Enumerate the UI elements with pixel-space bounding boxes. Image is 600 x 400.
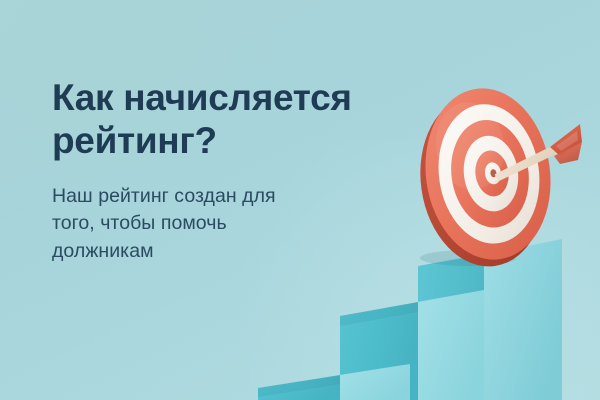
arrow-fletching-highlight	[556, 131, 578, 151]
target-ring-outer-red	[415, 80, 562, 268]
arrow-fletching-upper	[550, 124, 582, 156]
banner-headline: Как начисляется рейтинг?	[52, 76, 412, 163]
step-bar-3	[418, 239, 562, 400]
target-ring-red-3	[472, 148, 511, 198]
step-bar-2	[340, 290, 484, 400]
target-bullseye	[490, 169, 497, 178]
banner-copy: Как начисляется рейтинг? Наш рейтинг соз…	[52, 76, 412, 266]
target-side-rim	[410, 87, 557, 275]
banner-subheadline: Наш рейтинг создан для того, чтобы помоч…	[52, 163, 412, 266]
step-bar-1	[258, 364, 410, 400]
rating-info-banner: Как начисляется рейтинг? Наш рейтинг соз…	[0, 0, 600, 400]
target-contact-shadow	[420, 250, 516, 266]
target-ring-white-3	[483, 161, 502, 185]
target-ring-white-2	[459, 132, 523, 215]
arrow-shaft	[495, 140, 570, 181]
arrow-dart	[495, 124, 583, 181]
target-graphic	[404, 84, 582, 264]
target-ring-white-1	[430, 98, 549, 251]
target-ring-red-2	[444, 115, 535, 233]
arrow-fletching-lower	[554, 142, 582, 164]
target-disc	[409, 80, 563, 274]
